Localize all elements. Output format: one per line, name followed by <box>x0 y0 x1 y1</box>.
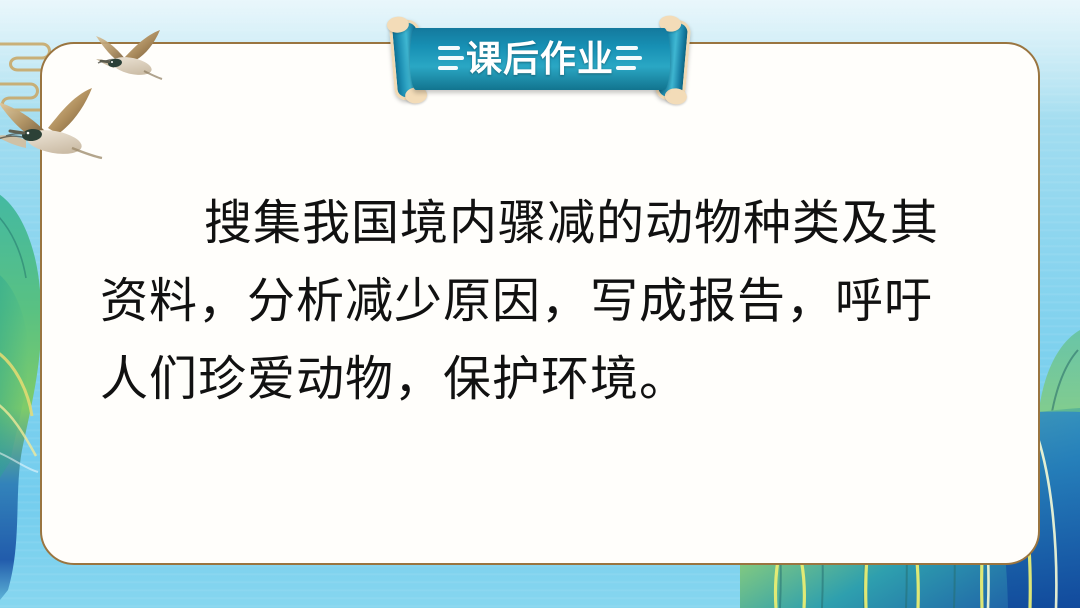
homework-text-line-1: 搜集我国境内骤减的动物种类及其 <box>100 185 980 263</box>
section-banner: 课后作业 <box>390 14 690 106</box>
flying-goose-upper-icon <box>88 28 174 92</box>
homework-line-3: 人们珍爱动物，保护环境。 <box>100 353 688 406</box>
slide-canvas: 课后作业 搜集我国境内骤减的动物种类及其 资料，分析减少原因，写成报告，呼吁 人… <box>0 0 1080 608</box>
banner-tick-group-left-icon <box>438 44 464 74</box>
banner-body: 课后作业 <box>410 28 670 90</box>
homework-text-line-2: 资料，分析减少原因，写成报告，呼吁 <box>100 263 980 341</box>
homework-line-2: 资料，分析减少原因，写成报告，呼吁 <box>100 275 933 328</box>
flying-goose-lower-icon <box>0 86 118 178</box>
banner-title: 课后作业 <box>466 41 614 77</box>
homework-text-block: 搜集我国境内骤减的动物种类及其 资料，分析减少原因，写成报告，呼吁 人们珍爱动物… <box>100 185 980 419</box>
homework-text-line-3: 人们珍爱动物，保护环境。 <box>100 341 980 419</box>
banner-tick-group-right-icon <box>616 44 642 74</box>
homework-line-1: 搜集我国境内骤减的动物种类及其 <box>204 197 939 250</box>
